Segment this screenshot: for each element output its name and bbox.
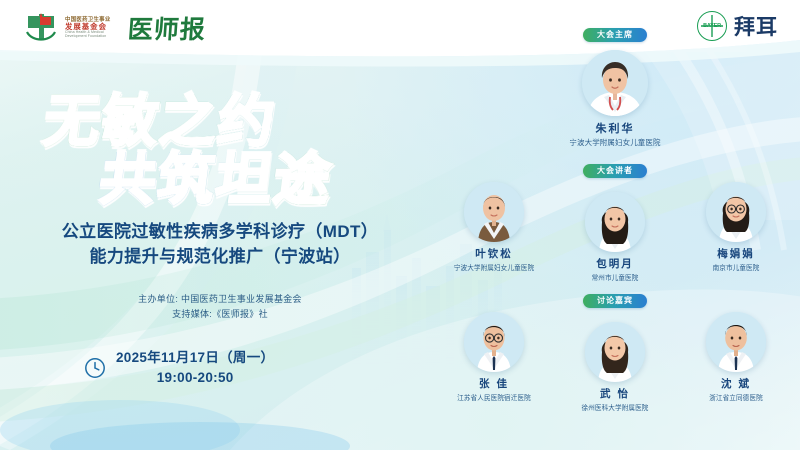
- guest-person: 沈 斌 浙江省立同德医院: [682, 312, 790, 412]
- subtitle-line-1: 公立医院过敏性疾病多学科诊疗（MDT）: [0, 220, 440, 245]
- speaker-person: 叶钦松 宁波大学附属妇女儿童医院: [440, 182, 548, 282]
- chairman-section: 大会主席: [430, 28, 800, 148]
- organizer-text: 主办单位: 中国医药卫生事业发展基金会: [0, 292, 440, 307]
- guest-person: 武 怡 徐州医科大学附属医院: [561, 322, 669, 412]
- medical-cross-icon: [24, 12, 58, 44]
- subtitle-line-2: 能力提升与规范化推广（宁波站）: [0, 245, 440, 270]
- speakers-badge: 大会讲者: [583, 164, 647, 178]
- media-logo: 医师报: [126, 10, 207, 46]
- speakers-section: 叶钦松 宁波大学附属妇女儿童医院: [430, 182, 800, 282]
- foundation-logo: 中国医药卫生事业 发展基金会 China Health & Medical De…: [24, 10, 206, 46]
- speaker-name: 包明月: [596, 256, 634, 271]
- event-time: 19:00-20:50: [116, 368, 274, 388]
- guest-affiliation: 徐州医科大学附属医院: [582, 402, 649, 412]
- chairman-badge: 大会主席: [583, 28, 647, 42]
- datetime-block: 2025年11月17日（周一） 19:00-20:50: [84, 348, 274, 387]
- datetime-text: 2025年11月17日（周一） 19:00-20:50: [116, 348, 274, 387]
- guest-name: 张 佳: [479, 376, 509, 391]
- subtitle: 公立医院过敏性疾病多学科诊疗（MDT） 能力提升与规范化推广（宁波站）: [0, 220, 440, 269]
- speaker-person: 包明月 常州市儿童医院: [561, 192, 669, 282]
- guests-badge: 讨论嘉宾: [583, 294, 647, 308]
- organizer-block: 主办单位: 中国医药卫生事业发展基金会 支持媒体:《医师报》社: [0, 292, 440, 322]
- speakers-badge-wrap: 大会讲者: [430, 164, 800, 178]
- foundation-name: 中国医药卫生事业 发展基金会 China Health & Medical De…: [65, 18, 111, 39]
- guest-name: 沈 斌: [721, 376, 751, 391]
- guest-affiliation: 江苏省人民医院宿迁医院: [457, 392, 531, 402]
- main-title: 无敏之约 共筑坦途: [44, 94, 424, 212]
- speaker-person: 梅娟娟 南京市儿童医院: [682, 182, 790, 282]
- title-line-2: 共筑坦途: [97, 152, 428, 208]
- right-content: 大会主席: [430, 0, 800, 450]
- avatar: [706, 182, 766, 242]
- avatar: [582, 50, 648, 116]
- guest-person: 张 佳 江苏省人民医院宿迁医院: [440, 312, 548, 412]
- foundation-line4: Development Foundation: [65, 35, 111, 39]
- speaker-affiliation: 南京市儿童医院: [713, 262, 760, 272]
- speaker-affiliation: 宁波大学附属妇女儿童医院: [454, 262, 534, 272]
- guests-section: 张 佳 江苏省人民医院宿迁医院: [430, 312, 800, 412]
- media-support-text: 支持媒体:《医师报》社: [0, 307, 440, 322]
- clock-icon: [84, 357, 106, 379]
- title-line-1: 无敏之约: [41, 94, 428, 150]
- conference-poster: 中国医药卫生事业 发展基金会 China Health & Medical De…: [0, 0, 800, 450]
- avatar: [585, 322, 645, 382]
- avatar: [585, 192, 645, 252]
- speaker-name: 梅娟娟: [717, 246, 755, 261]
- guest-affiliation: 浙江省立同德医院: [709, 392, 763, 402]
- guests-badge-wrap: 讨论嘉宾: [430, 294, 800, 308]
- guest-name: 武 怡: [600, 386, 630, 401]
- chairman-affiliation: 宁波大学附属妇女儿童医院: [569, 137, 660, 148]
- event-date: 2025年11月17日（周一）: [116, 350, 274, 365]
- speaker-affiliation: 常州市儿童医院: [592, 272, 639, 282]
- left-content: 无敏之约 共筑坦途 公立医院过敏性疾病多学科诊疗（MDT） 能力提升与规范化推广…: [0, 52, 440, 450]
- speaker-name: 叶钦松: [475, 246, 513, 261]
- avatar: [464, 182, 524, 242]
- chairman-person: 朱利华 宁波大学附属妇女儿童医院: [430, 42, 800, 148]
- chairman-name: 朱利华: [596, 120, 635, 136]
- avatar: [706, 312, 766, 372]
- avatar: [464, 312, 524, 372]
